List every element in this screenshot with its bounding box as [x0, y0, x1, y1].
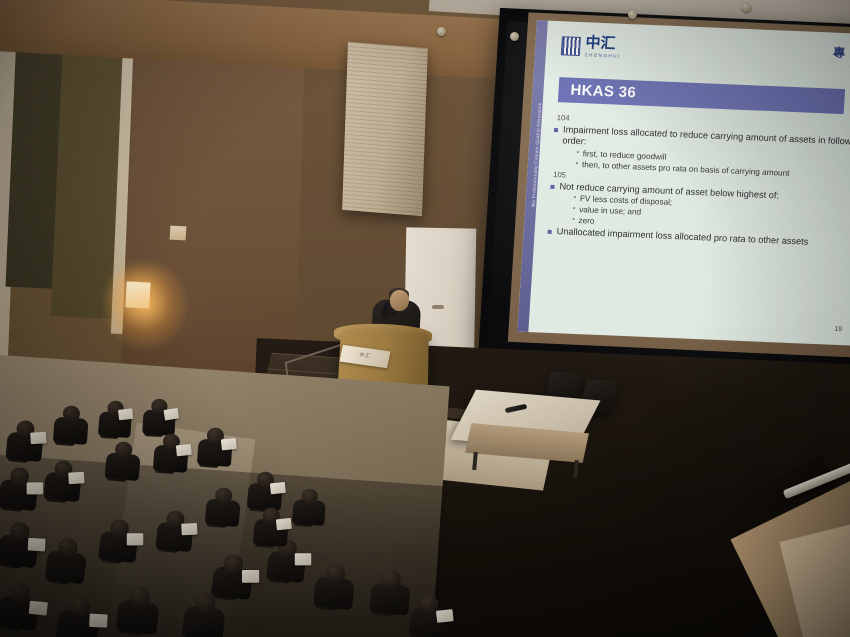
audience-handout	[242, 570, 259, 583]
audience-member	[112, 582, 174, 637]
audience-handout	[30, 432, 46, 444]
audience-member	[0, 578, 54, 637]
audience-member	[179, 589, 240, 637]
audience-handout	[436, 609, 454, 623]
audience-member	[52, 592, 114, 637]
audience-handout	[295, 553, 312, 565]
audience-handout	[118, 408, 133, 420]
audience-member	[310, 560, 368, 618]
audience-handout	[270, 482, 286, 495]
audience-member	[95, 515, 151, 571]
audience-handout	[68, 472, 84, 484]
audience-handout	[89, 614, 108, 628]
audience-member	[96, 398, 143, 445]
audience-member	[150, 430, 199, 479]
audience-handout	[27, 482, 44, 494]
audience-member	[194, 424, 243, 473]
audience-handout	[163, 408, 179, 421]
audience-member	[406, 592, 460, 637]
audience-handout	[127, 533, 144, 545]
lecture-hall-photo: We Professionally Commit Quality Assuran…	[0, 0, 850, 637]
audience-member	[153, 507, 205, 559]
audience-handout	[29, 601, 48, 616]
audience-handout	[28, 538, 46, 552]
audience-member	[290, 486, 337, 533]
audience-handout	[221, 438, 237, 451]
audience-member	[41, 457, 93, 509]
audience-member	[42, 534, 101, 593]
audience-member	[102, 438, 152, 488]
audience-handout	[176, 444, 192, 457]
audience-member	[50, 402, 99, 451]
audience-handout	[181, 523, 197, 535]
audience-seating	[0, 0, 850, 637]
